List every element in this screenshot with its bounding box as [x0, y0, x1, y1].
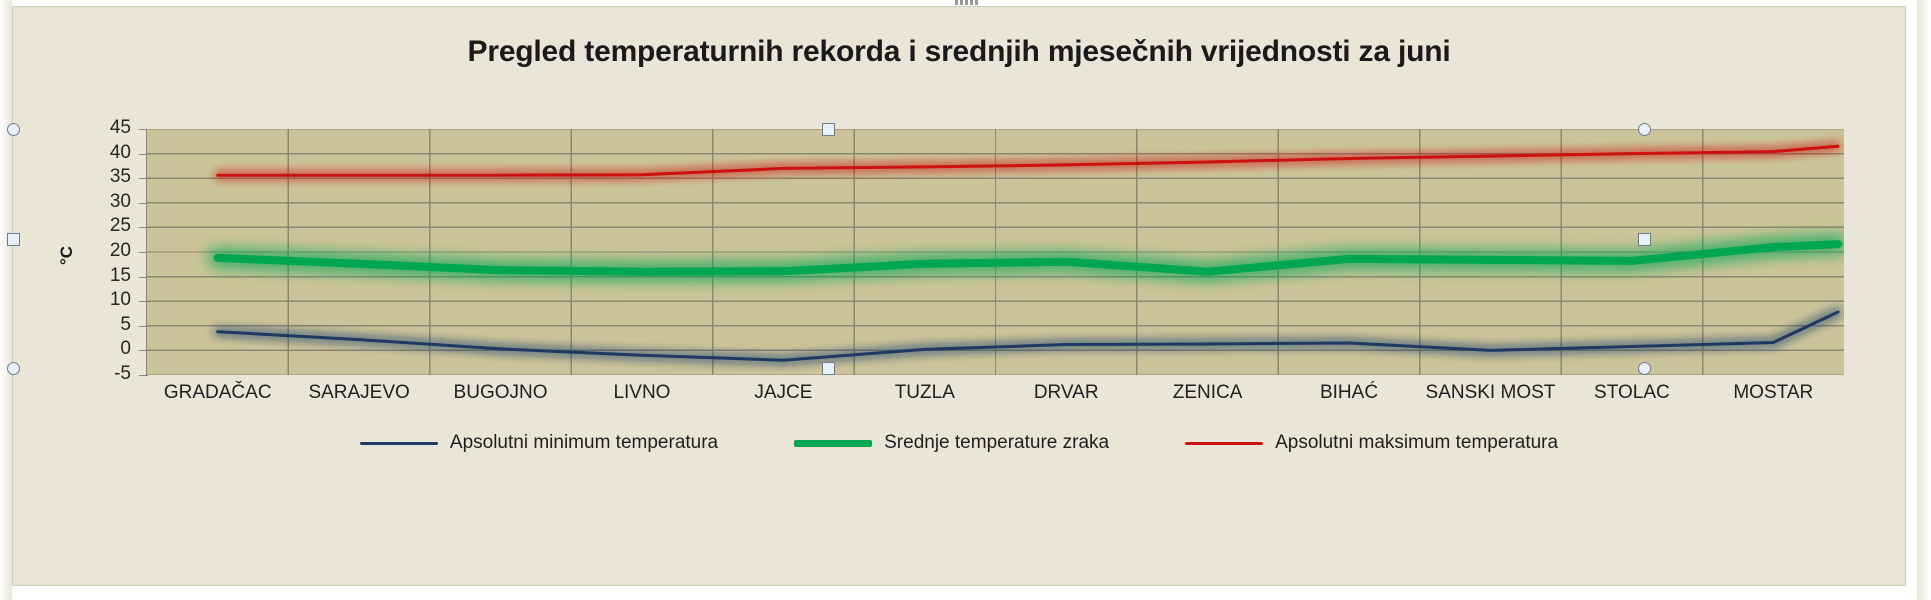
y-tick-mark	[139, 301, 146, 302]
series-line-0[interactable]	[218, 312, 1838, 360]
selection-handle-bottom-center[interactable]	[822, 362, 835, 375]
y-tick-label: 45	[77, 117, 131, 139]
y-axis-title: °C	[57, 246, 77, 265]
y-tick-mark	[139, 277, 146, 278]
y-tick-mark	[139, 203, 146, 204]
legend-label: Apsolutni maksimum temperatura	[1275, 432, 1558, 454]
selection-handle-bottom-left[interactable]	[7, 362, 20, 375]
y-tick-label: 30	[77, 191, 131, 213]
chart-canvas	[147, 129, 1844, 375]
y-tick-mark	[139, 178, 146, 179]
legend-swatch-icon	[360, 442, 438, 445]
y-tick-label: 10	[77, 289, 131, 311]
y-tick-mark	[139, 375, 146, 376]
y-tick-label: 20	[77, 240, 131, 262]
x-tick-label: MOSTAR	[1673, 382, 1873, 404]
legend-label: Srednje temperature zraka	[884, 432, 1109, 454]
series-line-2[interactable]	[218, 146, 1838, 175]
selection-handle-top-right[interactable]	[1638, 123, 1651, 136]
y-tick-label: 25	[77, 215, 131, 237]
series-glow-2	[218, 146, 1838, 175]
selection-handle-bottom-right[interactable]	[1638, 362, 1651, 375]
legend-item[interactable]: Apsolutni maksimum temperatura	[1185, 432, 1558, 454]
chart-title: Pregled temperaturnih rekorda i srednjih…	[13, 35, 1905, 69]
selection-handle-middle-left[interactable]	[7, 233, 20, 246]
page-left-edge	[0, 0, 12, 600]
y-tick-label: 0	[77, 338, 131, 360]
y-tick-mark	[139, 252, 146, 253]
y-tick-mark	[139, 326, 146, 327]
selection-handle-middle-right[interactable]	[1638, 233, 1651, 246]
chart-object[interactable]: Pregled temperaturnih rekorda i srednjih…	[12, 6, 1906, 586]
y-tick-label: 15	[77, 265, 131, 287]
chart-legend: Apsolutni minimum temperaturaSrednje tem…	[13, 432, 1905, 454]
legend-swatch-icon	[1185, 442, 1263, 445]
y-tick-mark	[139, 154, 146, 155]
selection-handle-top-center[interactable]	[822, 123, 835, 136]
y-tick-label: 35	[77, 166, 131, 188]
y-tick-mark	[139, 227, 146, 228]
page-right-edge	[1917, 0, 1931, 600]
selection-handle-top-left[interactable]	[7, 123, 20, 136]
legend-item[interactable]: Apsolutni minimum temperatura	[360, 432, 718, 454]
screenshot-root: Pregled temperaturnih rekorda i srednjih…	[0, 0, 1931, 600]
y-tick-label: 40	[77, 142, 131, 164]
series-glow-0	[218, 312, 1838, 360]
legend-item[interactable]: Srednje temperature zraka	[794, 432, 1109, 454]
y-tick-mark	[139, 129, 146, 130]
plot-area	[147, 129, 1844, 375]
y-tick-label: 5	[77, 314, 131, 336]
legend-swatch-icon	[794, 440, 872, 447]
legend-label: Apsolutni minimum temperatura	[450, 432, 718, 454]
y-tick-mark	[139, 350, 146, 351]
